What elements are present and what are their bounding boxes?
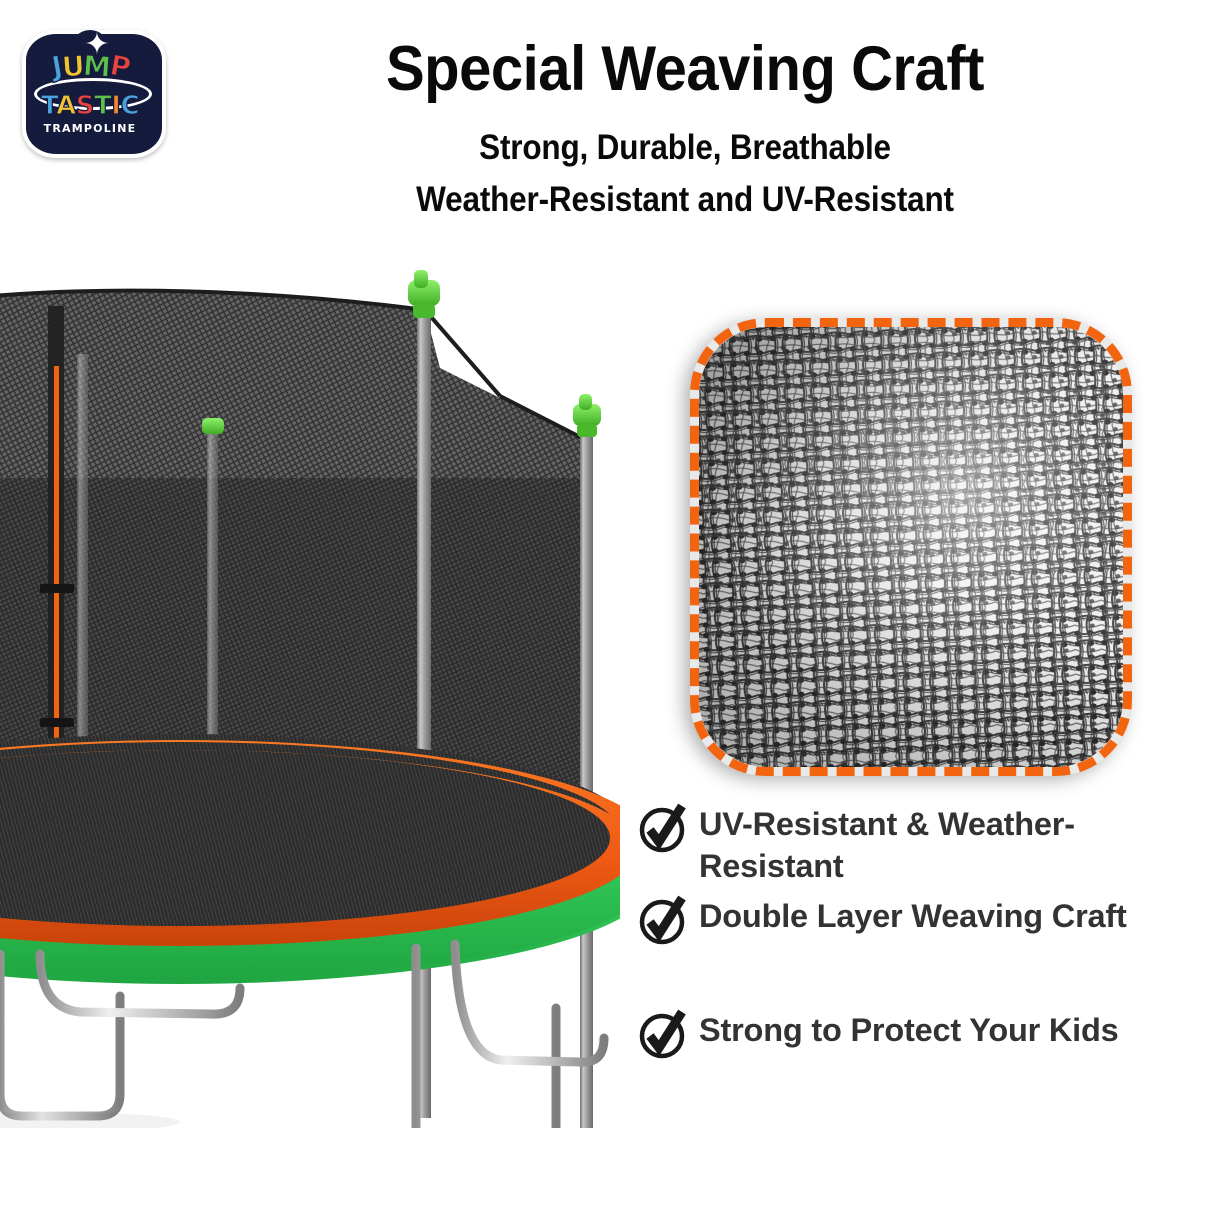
feature-item-label: UV-Resistant & Weather-Resistant bbox=[699, 800, 1212, 888]
net-closeup-image bbox=[699, 327, 1123, 767]
feature-item-strong-protect-kids: Strong to Protect Your Kids bbox=[637, 1006, 1212, 1060]
logo-letter-a: A bbox=[56, 91, 76, 121]
net-closeup-panel bbox=[690, 318, 1132, 776]
feature-list: UV-Resistant & Weather-Resistant Double … bbox=[637, 800, 1212, 1064]
brand-logo: ✦ JUMP TASTIC TRAMPOLINE bbox=[14, 24, 166, 156]
subtitle-line-1: Strong, Durable, Breathable bbox=[231, 128, 1140, 168]
check-circle-icon bbox=[637, 802, 689, 854]
check-circle-icon bbox=[637, 1008, 689, 1060]
check-circle-icon bbox=[637, 894, 689, 946]
page-title: Special Weaving Craft bbox=[220, 36, 1149, 102]
logo-letter-u: U bbox=[60, 49, 84, 84]
logo-letter-s: S bbox=[76, 91, 94, 121]
subtitle-line-2: Weather-Resistant and UV-Resistant bbox=[231, 180, 1140, 220]
logo-letter-t1: T bbox=[41, 91, 56, 121]
feature-item-label: Double Layer Weaving Craft bbox=[699, 892, 1127, 937]
feature-item-label: Strong to Protect Your Kids bbox=[699, 1006, 1119, 1051]
logo-wordmark-trampoline: TRAMPOLINE bbox=[30, 122, 150, 135]
feature-list-spacer bbox=[637, 950, 1212, 1006]
check-circle-glyph bbox=[637, 1008, 689, 1060]
infographic-page: ✦ JUMP TASTIC TRAMPOLINE Special Weaving… bbox=[0, 0, 1214, 1214]
logo-star-icon: ✦ bbox=[82, 30, 112, 60]
feature-item-uv-weather-resistant: UV-Resistant & Weather-Resistant bbox=[637, 800, 1212, 888]
feature-item-double-layer-weaving: Double Layer Weaving Craft bbox=[637, 892, 1212, 946]
trampoline-product-image bbox=[0, 248, 620, 1128]
net-weave-illustration bbox=[699, 327, 1123, 767]
logo-letter-c: C bbox=[120, 91, 139, 121]
check-circle-glyph bbox=[637, 802, 689, 854]
trampoline-illustration bbox=[0, 248, 620, 1128]
logo-wordmark-tastic: TASTIC bbox=[30, 90, 150, 122]
pole-cap-back-middle bbox=[202, 418, 224, 434]
ground-shadow-left bbox=[0, 1112, 180, 1128]
check-circle-glyph bbox=[637, 894, 689, 946]
logo-letter-t2: T bbox=[94, 91, 111, 121]
